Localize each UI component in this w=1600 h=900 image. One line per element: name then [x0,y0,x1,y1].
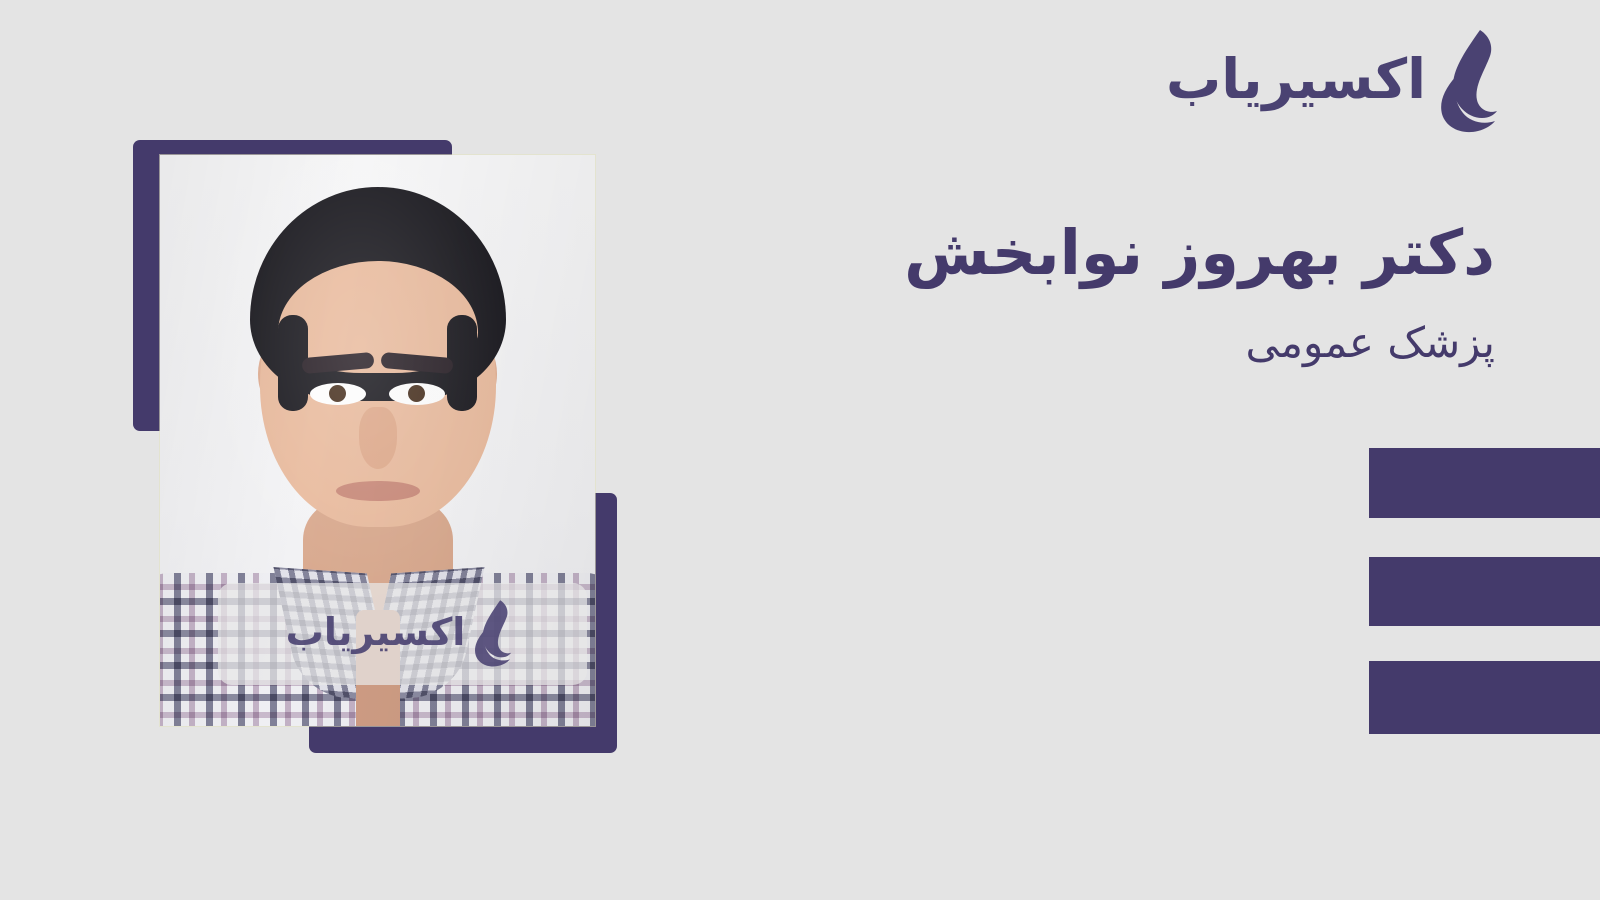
portrait-eye-left [310,383,366,405]
portrait-mouth [336,481,420,501]
watermark-brand-name: اکسیریاب [286,613,466,655]
doctor-name: دکتر بهروز نوابخش [795,214,1495,292]
doctor-info: دکتر بهروز نوابخش پزشک عمومی [795,214,1495,370]
doctor-specialty: پزشک عمومی [795,316,1495,371]
flame-icon [1436,28,1508,136]
photo-composition: اکسیریاب [133,140,617,753]
portrait-nose [359,407,397,469]
decorative-bars [1369,448,1600,734]
flame-icon [471,599,519,669]
decorative-bar-2 [1369,557,1600,626]
decorative-bar-3 [1369,661,1600,734]
doctor-photo: اکسیریاب [160,155,595,726]
decorative-bar-1 [1369,448,1600,518]
brand-name: اکسیریاب [1166,52,1426,113]
portrait-eye-right [389,383,445,405]
brand-logo: اکسیریاب [1166,28,1508,136]
photo-watermark: اکسیریاب [218,583,587,685]
profile-card-canvas: اکسیریاب [0,0,1600,900]
